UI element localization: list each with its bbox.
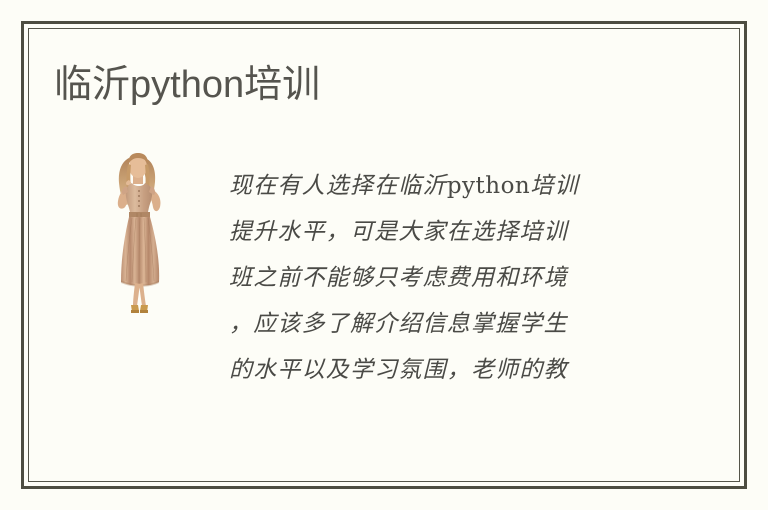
body-line: 提升水平，可是大家在选择培训	[229, 209, 653, 255]
poster-card: 临沂python培训	[0, 0, 768, 510]
body-paragraph: 现在有人选择在临沂python培训 提升水平，可是大家在选择培训 班之前不能够只…	[229, 163, 653, 393]
woman-in-pleated-dress-photo	[88, 150, 192, 318]
page-title: 临沂python培训	[54, 62, 320, 108]
body-line: 的水平以及学习氛围，老师的教	[229, 347, 653, 393]
model-figure-illustration	[88, 150, 192, 318]
body-line: ，应该多了解介绍信息掌握学生	[229, 301, 653, 347]
body-line: 现在有人选择在临沂python培训	[229, 163, 653, 209]
body-line: 班之前不能够只考虑费用和环境	[229, 255, 653, 301]
